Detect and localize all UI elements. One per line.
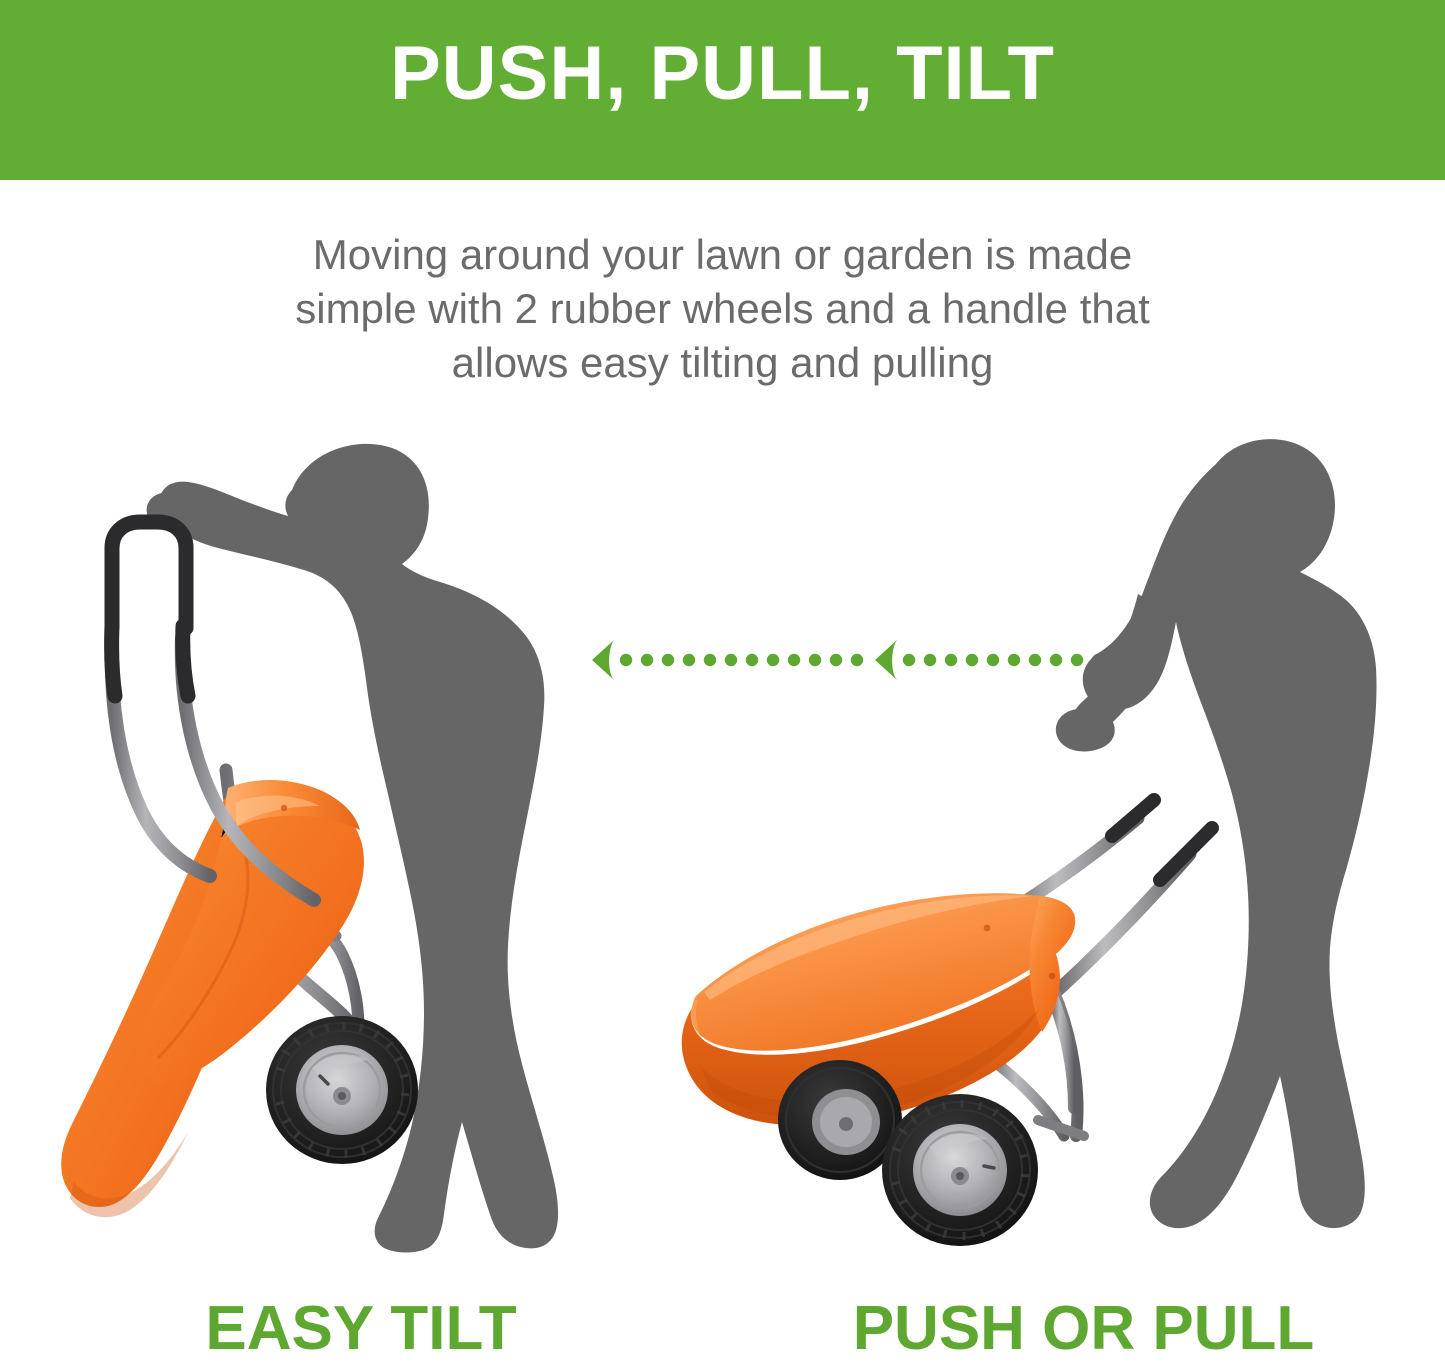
wheel xyxy=(266,1016,418,1164)
easy-tilt-illustration xyxy=(40,430,620,1260)
infographic-page: PUSH, PULL, TILT Moving around your lawn… xyxy=(0,0,1445,1366)
wheel-front xyxy=(882,1094,1038,1246)
wheelbarrow-upright xyxy=(682,800,1212,1246)
grip-bar xyxy=(112,522,186,628)
subtitle-text: Moving around your lawn or garden is mad… xyxy=(253,228,1193,389)
caption-push-or-pull: PUSH OR PULL xyxy=(722,1298,1445,1360)
caption-easy-tilt: EASY TILT xyxy=(0,1298,722,1360)
page-title: PUSH, PULL, TILT xyxy=(0,0,1445,180)
push-or-pull-illustration xyxy=(660,430,1420,1260)
